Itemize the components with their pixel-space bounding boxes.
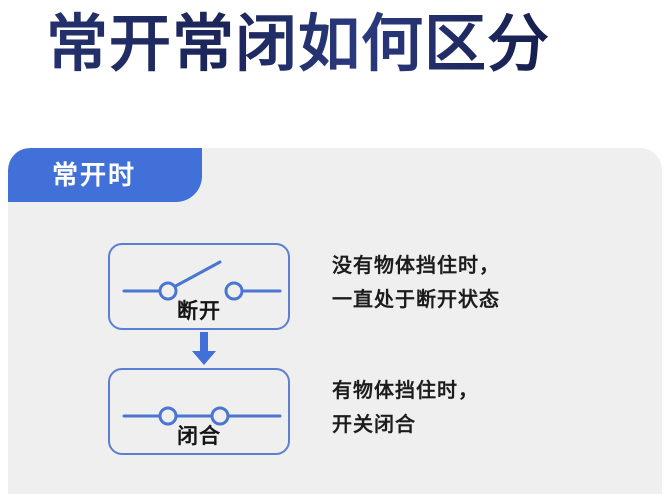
description-line-1: 有物体挡住时， [332, 374, 479, 408]
section-badge-label: 常开时 [52, 162, 136, 188]
description-blocked: 有物体挡住时， 开关闭合 [332, 368, 479, 442]
row-normally-open-state: 断开 没有物体挡住时， 一直处于断开状态 [108, 243, 500, 330]
diagram-switch-closed: 闭合 [108, 368, 290, 455]
section-badge: 常开时 [8, 148, 202, 202]
diagram-label-closed: 闭合 [110, 426, 288, 447]
description-line-2: 开关闭合 [332, 408, 479, 442]
description-normally-open: 没有物体挡住时， 一直处于断开状态 [332, 243, 500, 317]
arrow-down-icon [191, 332, 217, 366]
diagram-switch-open: 断开 [108, 243, 290, 330]
description-line-1: 没有物体挡住时， [332, 249, 500, 283]
row-blocked-state: 闭合 有物体挡住时， 开关闭合 [108, 368, 479, 455]
description-line-2: 一直处于断开状态 [332, 283, 500, 317]
info-card: 常开时 断开 没有物体挡住时， 一直处于断开状态 [8, 148, 662, 494]
diagram-label-open: 断开 [110, 301, 288, 322]
page-title: 常开常闭如何区分 [46, 6, 550, 84]
